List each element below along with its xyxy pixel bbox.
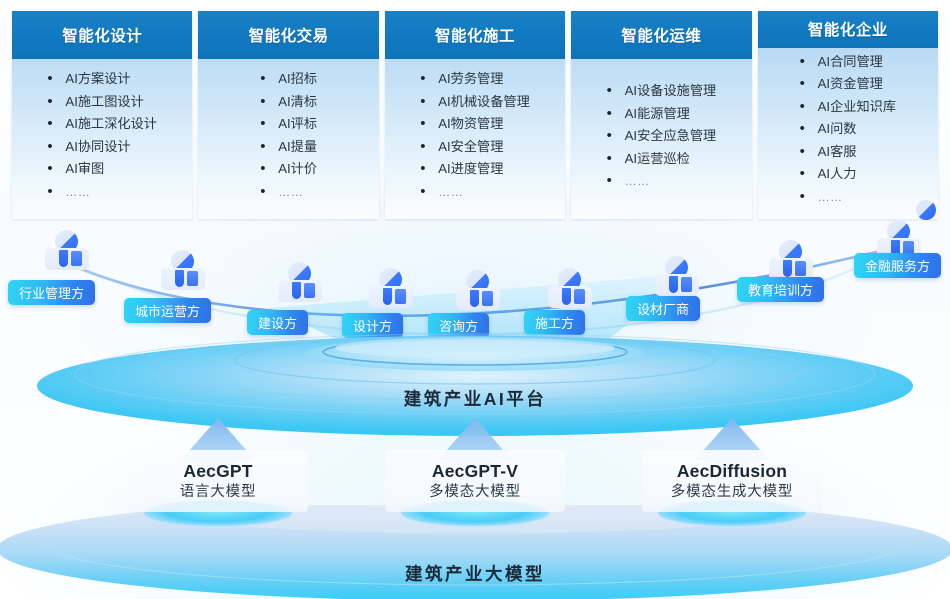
bullet-icon: • <box>260 139 278 154</box>
model-name: AecGPT <box>183 461 252 481</box>
model-name: AecGPT-V <box>432 461 518 481</box>
bullet-icon: • <box>420 161 438 176</box>
model-card-aecgpt-v[interactable]: AecGPT-V 多模态大模型 <box>377 416 573 528</box>
stakeholder-person-icon <box>654 256 700 300</box>
list-item: •AI物资管理 <box>420 116 530 131</box>
column-header-transaction: 智能化交易 <box>198 11 378 59</box>
list-item: •AI安全应急管理 <box>607 128 717 143</box>
model-cards: AecGPT 语言大模型 AecGPT-V 多模态大模型 <box>120 416 830 528</box>
list-item: •AI能源管理 <box>607 106 717 121</box>
column-body-enterprise: •AI合同管理 •AI资金管理 •AI企业知识库 •AI问数 •AI客服 •AI… <box>758 48 938 220</box>
list-item: •AI设备设施管理 <box>607 83 717 98</box>
stakeholder-person-icon <box>368 268 414 312</box>
list-item: •AI资金管理 <box>800 76 896 91</box>
person-tie-icon <box>383 288 392 305</box>
bullet-icon: • <box>47 161 65 176</box>
bullet-icon: • <box>47 184 65 199</box>
column-body-design: •AI方案设计 •AI施工图设计 •AI施工深化设计 •AI协同设计 •AI审图… <box>12 59 192 219</box>
capability-column-construction[interactable]: 智能化施工 •AI劳务管理 •AI机械设备管理 •AI物资管理 •AI安全管理 … <box>385 11 565 219</box>
stakeholder-person-icon <box>455 270 501 314</box>
model-card-aecdiffusion[interactable]: AecDiffusion 多模态生成大模型 <box>634 416 830 528</box>
column-list-enterprise: •AI合同管理 •AI资金管理 •AI企业知识库 •AI问数 •AI客服 •AI… <box>800 54 896 212</box>
list-item: •AI计价 <box>260 161 317 176</box>
bullet-icon: • <box>260 71 278 86</box>
bullet-icon: • <box>607 151 625 166</box>
stakeholder-person-icon <box>277 262 323 306</box>
list-item: •…… <box>420 184 530 199</box>
list-item: •…… <box>260 184 317 199</box>
stakeholder-badge-material-supplier[interactable]: 设材厂商 <box>626 296 700 321</box>
list-item: •…… <box>800 189 896 204</box>
bullet-icon: • <box>260 161 278 176</box>
bullet-icon: • <box>800 54 818 69</box>
bullet-icon: • <box>260 94 278 109</box>
person-arm-icon <box>71 251 82 266</box>
person-tie-icon <box>562 288 571 305</box>
stakeholder-badge-city-operator[interactable]: 城市运营方 <box>124 298 211 323</box>
person-arm-icon <box>187 271 198 286</box>
list-item: •…… <box>607 173 717 188</box>
list-item: •AI劳务管理 <box>420 71 530 86</box>
stakeholder-person-icon <box>160 250 206 294</box>
bullet-icon: • <box>47 94 65 109</box>
capability-column-transaction[interactable]: 智能化交易 •AI招标 •AI清标 •AI评标 •AI提量 •AI计价 •…… <box>198 11 378 219</box>
list-item: •AI安全管理 <box>420 139 530 154</box>
list-item: •AI施工深化设计 <box>47 116 157 131</box>
bullet-icon: • <box>420 116 438 131</box>
bullet-icon: • <box>800 121 818 136</box>
person-tie-icon <box>470 290 479 307</box>
bullet-icon: • <box>260 184 278 199</box>
bullet-icon: • <box>607 173 625 188</box>
person-arm-icon <box>795 261 806 276</box>
list-item: •AI招标 <box>260 71 317 86</box>
person-tie-icon <box>669 276 678 293</box>
bullet-icon: • <box>47 71 65 86</box>
list-item: •AI企业知识库 <box>800 99 896 114</box>
bullet-icon: • <box>607 128 625 143</box>
list-item: •AI协同设计 <box>47 139 157 154</box>
model-subtitle: 语言大模型 <box>180 483 257 502</box>
column-body-operations: •AI设备设施管理 •AI能源管理 •AI安全应急管理 •AI运营巡检 •…… <box>571 59 751 219</box>
person-arm-icon <box>395 289 406 304</box>
person-arm-icon <box>681 277 692 292</box>
bullet-icon: • <box>260 116 278 131</box>
foundation-label: 建筑产业大模型 <box>0 561 950 586</box>
bullet-icon: • <box>800 76 818 91</box>
bullet-icon: • <box>420 94 438 109</box>
bullet-icon: • <box>800 99 818 114</box>
column-list-transaction: •AI招标 •AI清标 •AI评标 •AI提量 •AI计价 •…… <box>260 71 317 206</box>
column-header-design: 智能化设计 <box>12 11 192 59</box>
list-item: •AI机械设备管理 <box>420 94 530 109</box>
list-item: •AI方案设计 <box>47 71 157 86</box>
bullet-icon: • <box>800 189 818 204</box>
stakeholder-person-icon <box>547 268 593 312</box>
column-body-transaction: •AI招标 •AI清标 •AI评标 •AI提量 •AI计价 •…… <box>198 59 378 219</box>
person-tie-icon <box>292 282 301 299</box>
list-item: •…… <box>47 184 157 199</box>
model-card-aecgpt[interactable]: AecGPT 语言大模型 <box>120 416 316 528</box>
model-card-panel: AecGPT 语言大模型 <box>128 450 308 512</box>
bullet-icon: • <box>420 139 438 154</box>
person-tie-icon <box>175 270 184 287</box>
column-header-operations: 智能化运维 <box>571 11 751 59</box>
model-name: AecDiffusion <box>677 461 787 481</box>
list-item: •AI施工图设计 <box>47 94 157 109</box>
decorative-dot-icon <box>916 200 936 220</box>
bullet-icon: • <box>607 106 625 121</box>
stakeholder-badge-education-training[interactable]: 教育培训方 <box>737 277 824 302</box>
model-card-panel: AecDiffusion 多模态生成大模型 <box>642 450 822 512</box>
list-item: •AI客服 <box>800 144 896 159</box>
bullet-icon: • <box>47 116 65 131</box>
bullet-icon: • <box>420 184 438 199</box>
capability-column-design[interactable]: 智能化设计 •AI方案设计 •AI施工图设计 •AI施工深化设计 •AI协同设计… <box>12 11 192 219</box>
column-list-design: •AI方案设计 •AI施工图设计 •AI施工深化设计 •AI协同设计 •AI审图… <box>47 71 157 206</box>
capability-columns: 智能化设计 •AI方案设计 •AI施工图设计 •AI施工深化设计 •AI协同设计… <box>12 11 938 219</box>
list-item: •AI合同管理 <box>800 54 896 69</box>
person-arm-icon <box>574 289 585 304</box>
list-item: •AI审图 <box>47 161 157 176</box>
person-arm-icon <box>482 291 493 306</box>
bullet-icon: • <box>800 144 818 159</box>
list-item: •AI问数 <box>800 121 896 136</box>
list-item: •AI评标 <box>260 116 317 131</box>
model-subtitle: 多模态生成大模型 <box>671 483 793 502</box>
bullet-icon: • <box>607 83 625 98</box>
column-header-construction: 智能化施工 <box>385 11 565 59</box>
person-tie-icon <box>783 260 792 277</box>
capability-column-enterprise[interactable]: 智能化企业 •AI合同管理 •AI资金管理 •AI企业知识库 •AI问数 •AI… <box>758 11 938 219</box>
stakeholder-badge-industry-regulator[interactable]: 行业管理方 <box>8 280 95 305</box>
capability-column-operations[interactable]: 智能化运维 •AI设备设施管理 •AI能源管理 •AI安全应急管理 •AI运营巡… <box>571 11 751 219</box>
bullet-icon: • <box>800 166 818 181</box>
list-item: •AI进度管理 <box>420 161 530 176</box>
column-list-operations: •AI设备设施管理 •AI能源管理 •AI安全应急管理 •AI运营巡检 •…… <box>607 83 717 196</box>
list-item: •AI提量 <box>260 139 317 154</box>
bullet-icon: • <box>420 71 438 86</box>
person-tie-icon <box>59 250 68 267</box>
platform-label: 建筑产业AI平台 <box>35 386 915 411</box>
model-card-panel: AecGPT-V 多模态大模型 <box>385 450 565 512</box>
list-item: •AI人力 <box>800 166 896 181</box>
stakeholder-person-icon <box>44 230 90 274</box>
list-item: •AI清标 <box>260 94 317 109</box>
list-item: •AI运营巡检 <box>607 151 717 166</box>
person-arm-icon <box>304 283 315 298</box>
stakeholder-badge-financial-services[interactable]: 金融服务方 <box>854 253 941 278</box>
model-subtitle: 多模态大模型 <box>429 483 521 502</box>
column-header-enterprise: 智能化企业 <box>758 11 938 48</box>
bullet-icon: • <box>47 139 65 154</box>
column-list-construction: •AI劳务管理 •AI机械设备管理 •AI物资管理 •AI安全管理 •AI进度管… <box>420 71 530 206</box>
column-body-construction: •AI劳务管理 •AI机械设备管理 •AI物资管理 •AI安全管理 •AI进度管… <box>385 59 565 219</box>
